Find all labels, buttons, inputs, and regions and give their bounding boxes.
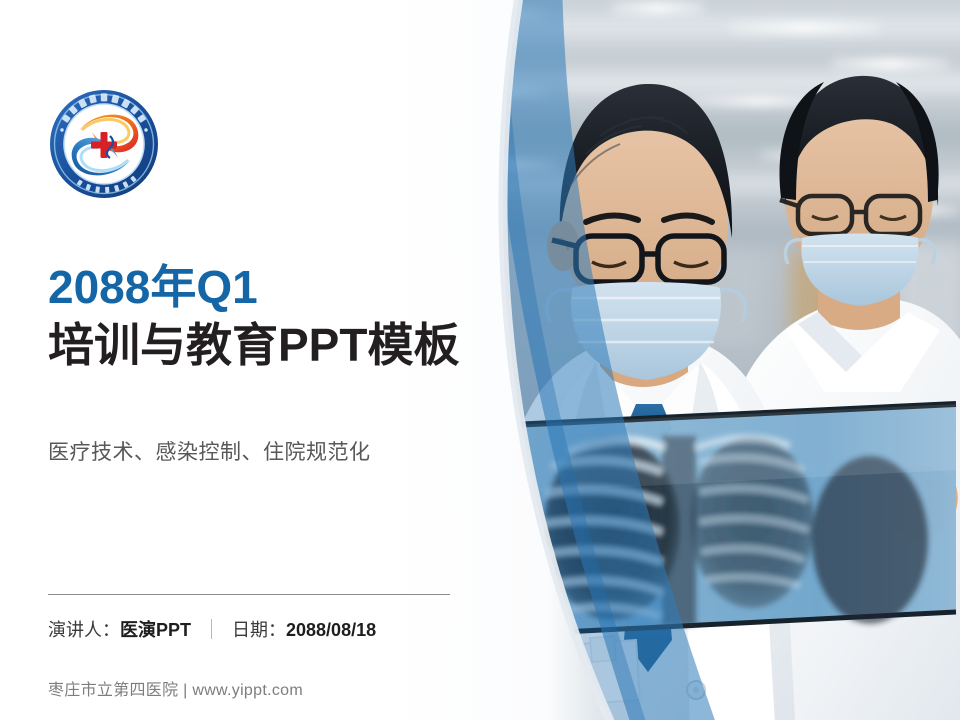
presenter-meta-row: 演讲人： 医演PPT 日期： 2088/08/18: [48, 616, 376, 642]
slide-content-panel: 2088年Q1 培训与教育PPT模板 医疗技术、感染控制、住院规范化 演讲人： …: [0, 0, 520, 720]
subtitle: 医疗技术、感染控制、住院规范化: [48, 436, 371, 466]
meta-separator: [211, 619, 212, 639]
date-group: 日期： 2088/08/18: [232, 616, 376, 642]
title-line-main: 培训与教育PPT模板: [48, 318, 508, 372]
date-value: 2088/08/18: [286, 620, 376, 641]
title-line-year: 2088年Q1: [48, 262, 508, 314]
horizontal-divider: [48, 594, 450, 595]
speaker-value: 医演PPT: [120, 616, 191, 642]
title-block: 2088年Q1 培训与教育PPT模板: [48, 262, 508, 372]
date-label: 日期：: [232, 616, 286, 642]
hospital-logo: [48, 88, 160, 200]
presentation-title-slide: 2088年Q1 培训与教育PPT模板 医疗技术、感染控制、住院规范化 演讲人： …: [0, 0, 960, 720]
speaker-label: 演讲人：: [48, 616, 120, 642]
footer-organization: 枣庄市立第四医院 | www.yippt.com: [48, 676, 303, 700]
speaker-group: 演讲人： 医演PPT: [48, 616, 191, 642]
